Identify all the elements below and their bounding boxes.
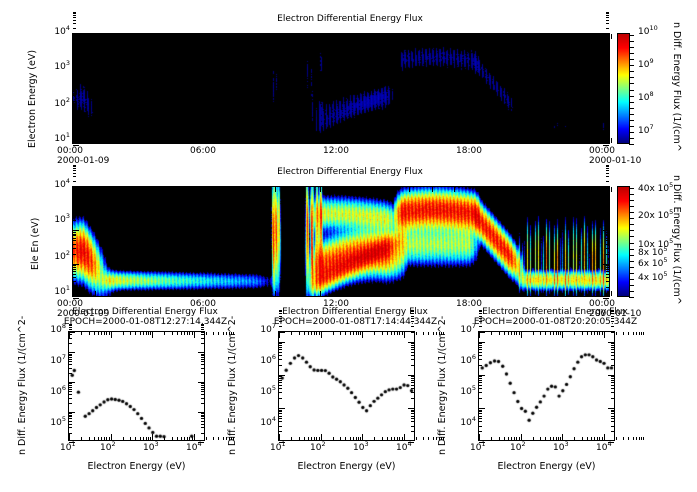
panel1-xdate-left: 2000-01-09	[57, 156, 109, 166]
panel2-colorbar-label: n Diff. Energy Flux (1/(cm^	[671, 175, 682, 305]
panel3b-scatter-canvas	[279, 332, 414, 440]
panel3a-yticks: 108 107 106 105	[34, 331, 68, 441]
panel3b-plot-area	[278, 331, 415, 441]
panel2-spectrogram-canvas	[73, 187, 609, 296]
panel1-ylabel: Electron Energy (eV)	[27, 50, 38, 148]
panel3b-yticks: 107 106 105 104	[244, 331, 278, 441]
panel3b-xlabel: Electron Energy (eV)	[278, 461, 415, 472]
panel3b-epoch: EPOCH=2000-01-08T17:14:44.344Z	[243, 317, 468, 327]
panel3c-xlabel: Electron Energy (eV)	[478, 461, 615, 472]
panel3c-scatter-canvas	[479, 332, 614, 440]
panel1-colorbar	[617, 33, 630, 144]
panel2-colorbar	[617, 186, 630, 297]
panel2-title: Electron Differential Energy Flux	[190, 167, 510, 177]
panel3a-epoch: EPOCH=2000-01-08T12:27:14.344Z	[33, 317, 258, 327]
panel3a-ylabel: n Diff. Energy Flux (1/(cm^2-	[17, 316, 28, 455]
panel1-spectrogram-canvas	[73, 34, 609, 143]
panel3a-title: Electron Differential Energy Flux	[45, 307, 245, 317]
panel3c-plot-area	[478, 331, 615, 441]
panel1-title: Electron Differential Energy Flux	[190, 14, 510, 24]
panel3c-yticks: 107 106 105 104	[444, 331, 478, 441]
panel3c-epoch: EPOCH=2000-01-08T20:20:05.344Z	[443, 317, 668, 327]
panel3a-xlabel: Electron Energy (eV)	[68, 461, 205, 472]
panel2-yticks: 104 103 102 101	[38, 186, 72, 297]
panel3b-title: Electron Differential Energy Flux	[255, 307, 455, 317]
panel2-plot-area	[72, 186, 610, 297]
panel1-plot-area	[72, 33, 610, 144]
panel1-xdate-right: 2000-01-10	[589, 156, 641, 166]
panel1-colorbar-label: n Diff. Energy Flux (1/(cm^	[671, 22, 682, 152]
panel1-yticks: 104 103 102 101	[38, 33, 72, 144]
panel3c-title: Electron Differential Energy Flux	[455, 307, 655, 317]
panel3b-ylabel: n Diff. Energy Flux (1/(cm^2-	[227, 316, 238, 455]
panel3a-plot-area	[68, 331, 205, 441]
panel3a-scatter-canvas	[69, 332, 204, 440]
